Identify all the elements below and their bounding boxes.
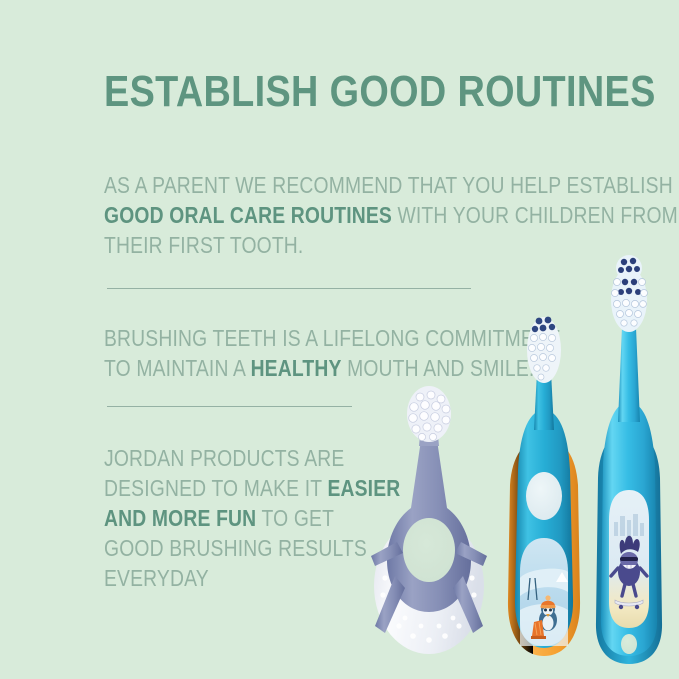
hang-hole — [621, 634, 637, 654]
products-line-3-rest: TO GET — [256, 505, 334, 531]
intro-line-1: AS A PARENT WE RECOMMEND THAT YOU HELP E… — [104, 170, 678, 200]
paragraph-intro: AS A PARENT WE RECOMMEND THAT YOU HELP E… — [104, 170, 678, 260]
intro-bold-phrase: GOOD ORAL CARE ROUTINES — [104, 202, 392, 228]
artwork-penguin-scene — [520, 569, 568, 646]
intro-line-2: GOOD ORAL CARE ROUTINES WITH YOUR CHILDR… — [104, 200, 678, 230]
commitment-line-2-a: TO MAINTAIN A — [104, 355, 251, 381]
product-lineup — [355, 250, 679, 679]
product-junior-toothbrush-troll — [583, 252, 675, 670]
intro-line-2-rest: WITH YOUR CHILDREN FROM — [392, 202, 678, 228]
product-toddler-toothbrush-penguin — [498, 310, 590, 662]
page-title: ESTABLISH GOOD ROUTINES — [104, 68, 534, 116]
text-column: ESTABLISH GOOD ROUTINES AS A PARENT WE R… — [104, 68, 604, 116]
product-baby-toothbrush-teether — [361, 390, 501, 658]
commitment-bold-phrase: HEALTHY — [251, 355, 342, 381]
products-bold-andmorefun: AND MORE FUN — [104, 505, 256, 531]
poster-root: ESTABLISH GOOD ROUTINES AS A PARENT WE R… — [0, 0, 679, 679]
products-line-2-a: DESIGNED TO MAKE IT — [104, 475, 327, 501]
grip-hole — [526, 472, 562, 520]
divider-2 — [107, 406, 352, 407]
grip-hole — [403, 518, 455, 582]
